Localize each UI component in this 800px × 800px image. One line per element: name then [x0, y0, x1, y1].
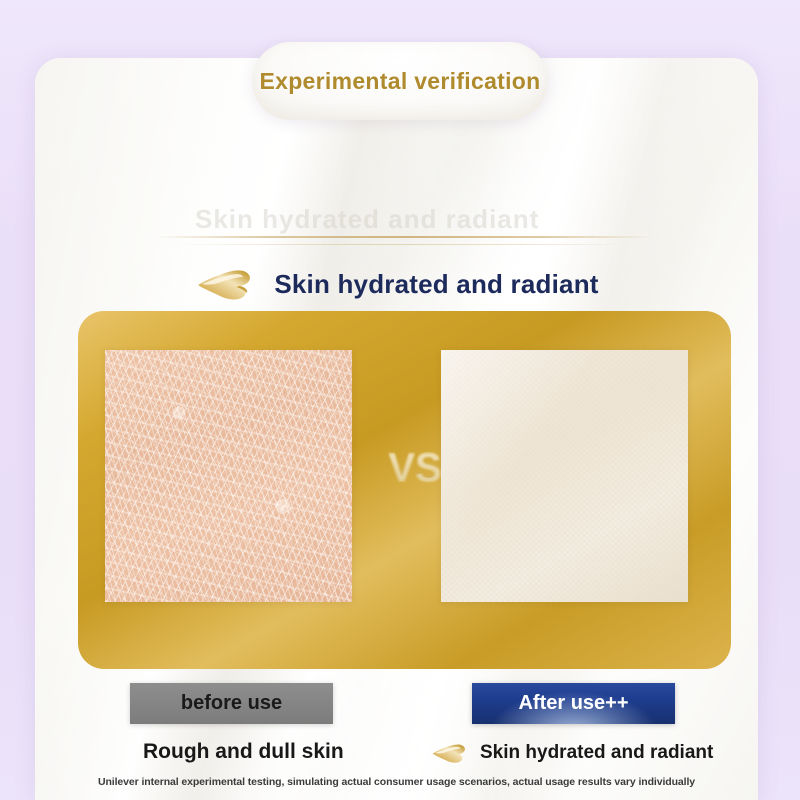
before-skin-image [105, 350, 352, 602]
vs-label: VS [375, 445, 455, 490]
heading-block: Skin hydrated and radiant [35, 184, 758, 284]
dove-logo-icon [194, 264, 258, 304]
dove-logo-icon [430, 740, 470, 766]
divider-top [155, 236, 655, 238]
after-skin-image [441, 350, 688, 602]
page-title: Skin hydrated and radiant [274, 269, 598, 300]
footer-disclaimer: Unilever internal experimental testing, … [35, 776, 758, 788]
divider-top-thin [180, 244, 630, 245]
caption-row: Rough and dull skin Skin hydrated and ra… [35, 740, 758, 780]
label-row: before use After use++ [35, 683, 758, 729]
after-caption-text: Skin hydrated and radiant [480, 742, 713, 764]
after-use-label: After use++ [472, 683, 675, 724]
before-caption: Rough and dull skin [143, 740, 344, 764]
heading-row: Skin hydrated and radiant [35, 264, 758, 304]
advertisement-graphic: Skin hydrated and radiant [0, 0, 800, 800]
title-pill-label: Experimental verification [259, 68, 540, 95]
product-card: Skin hydrated and radiant [35, 58, 758, 800]
before-caption-text: Rough and dull skin [143, 740, 344, 764]
title-pill: Experimental verification [252, 42, 548, 120]
after-caption: Skin hydrated and radiant [430, 740, 713, 766]
heading-ghost-text: Skin hydrated and radiant [195, 204, 615, 235]
before-use-label: before use [130, 683, 333, 724]
comparison-panels: VS [35, 350, 758, 610]
